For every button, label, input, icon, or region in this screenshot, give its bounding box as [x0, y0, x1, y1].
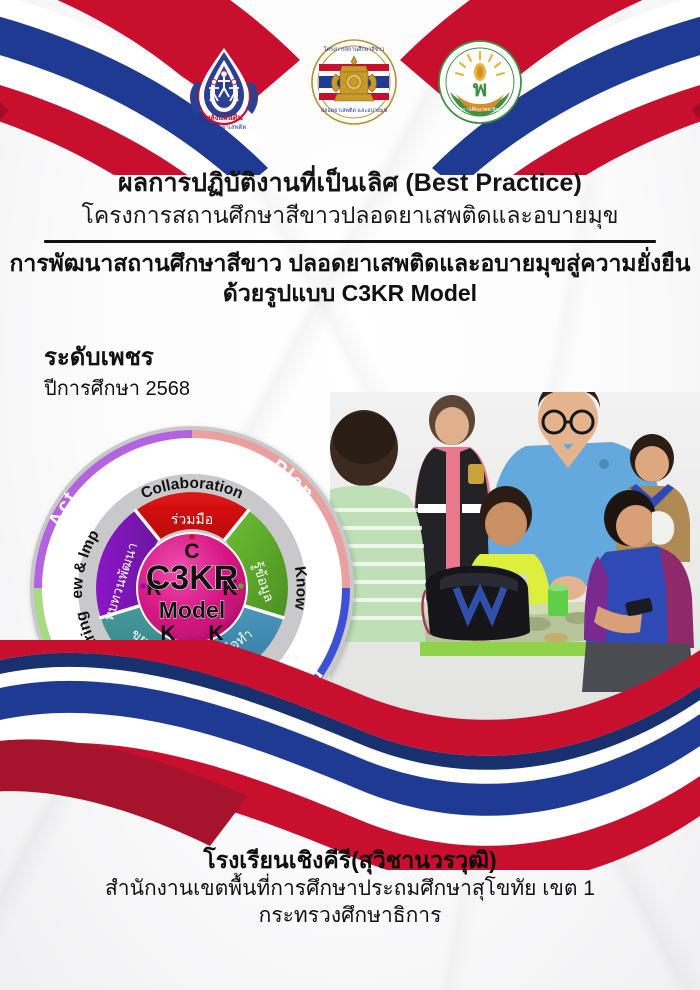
segment-letter-k3: K	[160, 622, 175, 645]
logo-white-school-seal: โครงการสถานศึกษาสีขาว ปลอดยาเสพติด และอบ…	[310, 38, 398, 131]
c3kr-model-diagram: Plan Do Check Act Collaboration Know Kno…	[22, 418, 362, 758]
title-line-4: ด้วยรูปแบบ C3KR Model	[0, 279, 700, 309]
sufficiency-thai-glyph: พ	[473, 76, 488, 101]
academic-year-label: ปีการศึกษา 2568	[44, 376, 190, 402]
segment-thai-collaboration: ร่วมมือ	[171, 511, 213, 527]
logo-caption-1-line2: เอาชนะยาเสพติด	[202, 124, 247, 131]
level-label: ระดับเพชร	[44, 344, 190, 372]
logo-phalang-phaendin: พลังแผ่นดิน เอาชนะยาเสพติด	[176, 38, 272, 139]
poster-root: พลังแผ่นดิน เอาชนะยาเสพติด	[0, 0, 700, 990]
footer-ministry: กระทรวงศึกษาธิการ	[0, 902, 700, 929]
logo-caption-3: สถานศึกษาพอเพียง	[459, 106, 501, 113]
segment-letter-k2: K	[208, 622, 223, 645]
title-line-1: ผลการปฏิบัติงานที่เป็นเลิศ (Best Practic…	[0, 168, 700, 199]
footer-block: โรงเรียนเชิงคีรี(สุวิชานวรวุฒิ) สำนักงาน…	[0, 846, 700, 929]
title-line-2: โครงการสถานศึกษาสีขาวปลอดยาเสพติดและอบาย…	[0, 201, 700, 230]
title-block: ผลการปฏิบัติงานที่เป็นเลิศ (Best Practic…	[0, 168, 700, 309]
mid-label-know: Know	[291, 565, 310, 611]
level-block: ระดับเพชร ปีการศึกษา 2568	[44, 344, 190, 402]
footer-school-name: โรงเรียนเชิงคีรี(สุวิชานวรวุฒิ)	[0, 846, 700, 875]
core-title: C3KR	[146, 559, 239, 597]
title-line-3: การพัฒนาสถานศึกษาสีขาว ปลอดยาเสพติดและอบ…	[0, 249, 700, 279]
logo-row: พลังแผ่นดิน เอาชนะยาเสพติด	[0, 38, 700, 139]
core-subtitle: Model	[159, 597, 225, 623]
activity-photo	[330, 392, 700, 732]
logo-caption-1-line1: พลังแผ่นดิน	[205, 113, 243, 122]
logo-caption-2-top: โครงการสถานศึกษาสีขาว	[324, 46, 385, 53]
logo-caption-2-bottom: ปลอดยาเสพติด และอบายมุข	[321, 107, 388, 114]
title-divider	[44, 240, 656, 243]
logo-sufficiency-economy: พ สถานศึกษาพอเพียง	[436, 38, 524, 131]
footer-area-office: สำนักงานเขตพื้นที่การศึกษาประถมศึกษาสุโข…	[0, 875, 700, 902]
